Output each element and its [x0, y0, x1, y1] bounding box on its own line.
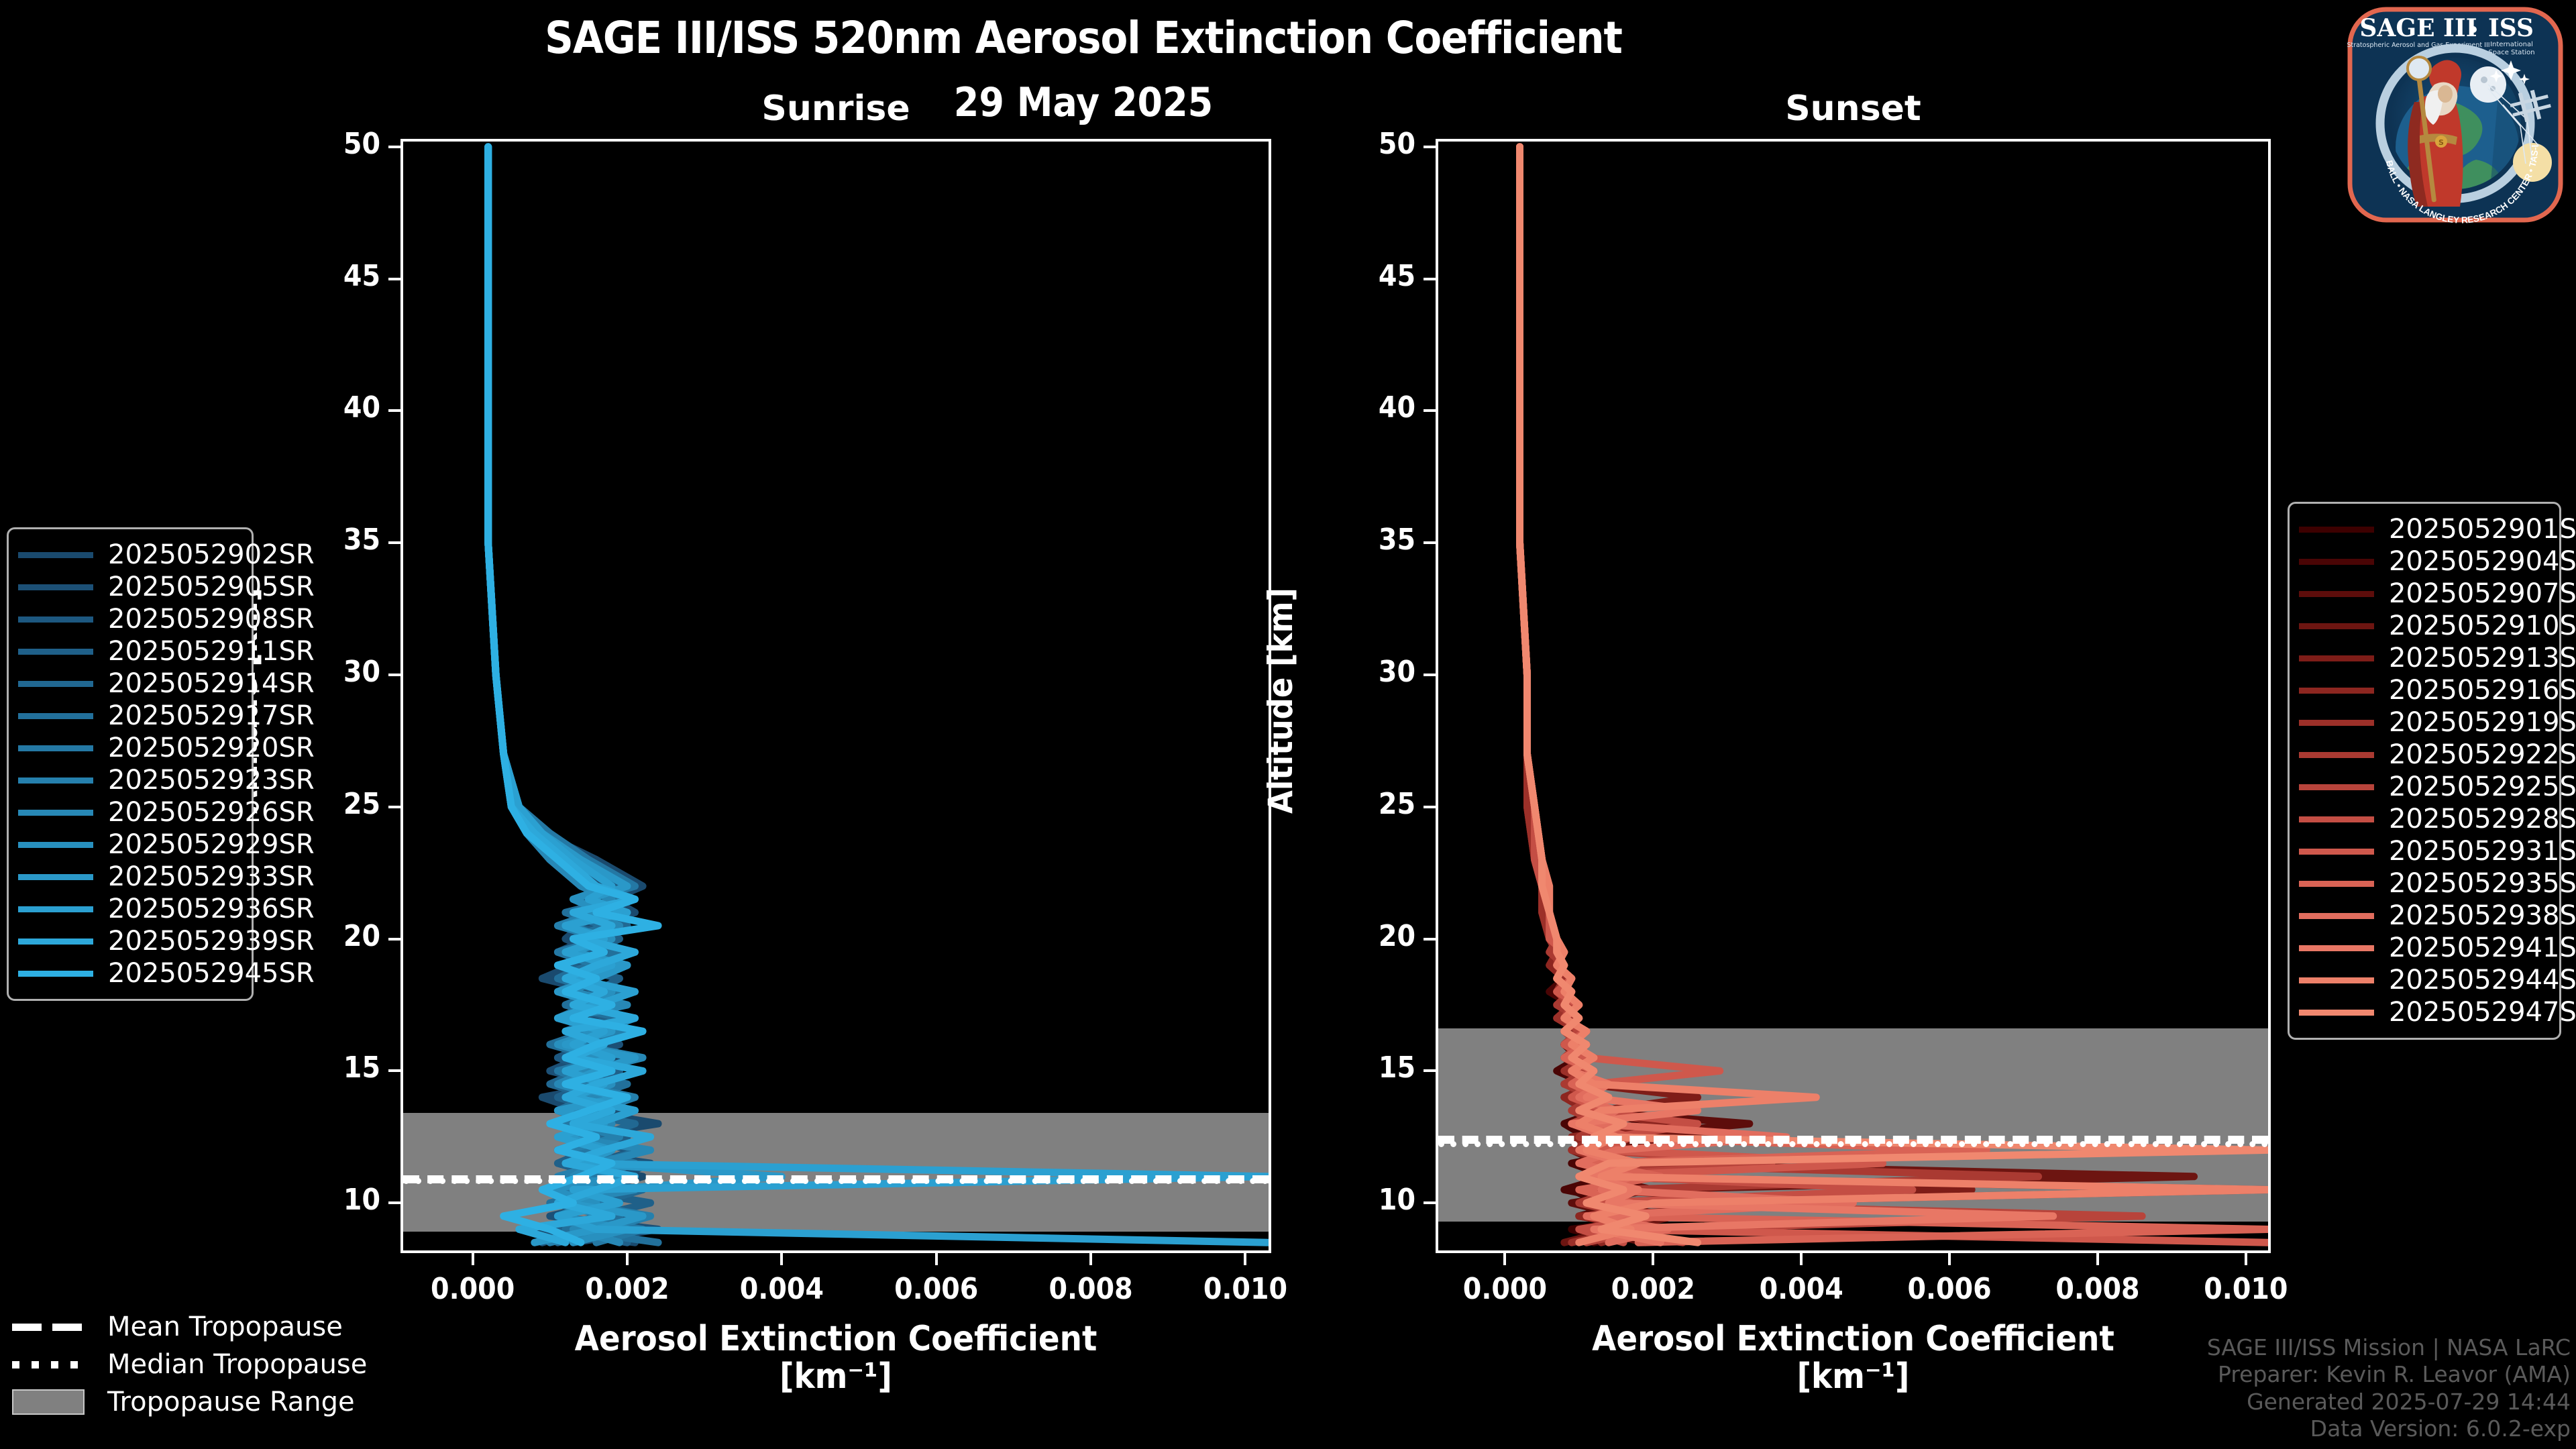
y-axis-tick-label: 45	[1308, 259, 1415, 293]
series-color-swatch-icon	[18, 874, 93, 880]
series-legend-label: 2025052911SR	[108, 636, 315, 667]
sunrise-legend-item[interactable]: 2025052936SR	[18, 893, 239, 925]
x-axis-title-line-1: Aerosol Extinction Coefficient	[1436, 1320, 2271, 1358]
y-axis-tick	[1424, 146, 1436, 148]
y-axis-tick	[1424, 541, 1436, 544]
series-legend-label: 2025052914SR	[108, 668, 315, 699]
y-axis-tick	[1424, 674, 1436, 676]
x-axis-tick	[2245, 1253, 2247, 1265]
series-legend-label: 2025052944SS	[2389, 965, 2576, 996]
series-color-swatch-icon	[2299, 849, 2374, 855]
profile-curves	[403, 142, 1269, 1250]
footer-line-generated: Generated 2025-07-29 14:44	[2207, 1389, 2571, 1415]
series-color-swatch-icon	[2299, 559, 2374, 565]
y-axis-tick	[388, 674, 400, 676]
y-axis-tick	[1424, 278, 1436, 280]
series-color-swatch-icon	[18, 938, 93, 945]
x-axis-tick-label: 0.000	[399, 1272, 547, 1306]
series-color-swatch-icon	[2299, 623, 2374, 629]
footer-line-preparer: Preparer: Kevin R. Leavor (AMA)	[2207, 1361, 2571, 1388]
sunrise-panel-title: Sunrise	[400, 89, 1271, 129]
series-legend-label: 2025052933SR	[108, 861, 315, 892]
y-axis-tick	[388, 278, 400, 280]
svg-text:International: International	[2490, 41, 2533, 48]
legend-item-mean-tropopause: Mean Tropopause	[12, 1308, 301, 1346]
range-swatch-icon	[12, 1393, 91, 1411]
sunset-legend-item[interactable]: 2025052916SS	[2299, 674, 2547, 706]
series-color-swatch-icon	[2299, 688, 2374, 694]
series-legend-label: 2025052925SS	[2389, 771, 2576, 802]
y-axis-tick	[1424, 409, 1436, 412]
median-tropopause-line	[403, 1178, 1269, 1184]
x-axis-tick	[780, 1253, 783, 1265]
series-color-swatch-icon	[2299, 527, 2374, 533]
x-axis-tick	[1244, 1253, 1246, 1265]
x-axis-tick	[626, 1253, 629, 1265]
legend-item-median-tropopause: Median Tropopause	[12, 1346, 301, 1383]
x-axis-title-units: [km⁻¹]	[1436, 1358, 2271, 1395]
series-color-swatch-icon	[18, 552, 93, 558]
series-legend-label: 2025052916SS	[2389, 675, 2576, 706]
y-axis-tick-label: 50	[1308, 127, 1415, 161]
series-legend-label: 2025052908SR	[108, 604, 315, 635]
series-legend-label: 2025052905SR	[108, 572, 315, 602]
sunset-legend-item[interactable]: 2025052935SS	[2299, 867, 2547, 900]
y-axis-tick-label: 10	[1308, 1183, 1415, 1217]
sunset-legend-item[interactable]: 2025052928SS	[2299, 803, 2547, 835]
sunrise-legend-item[interactable]: 2025052923SR	[18, 764, 239, 796]
x-axis-tick	[1948, 1253, 1951, 1265]
sunrise-legend-item[interactable]: 2025052926SR	[18, 796, 239, 828]
series-color-swatch-icon	[2299, 945, 2374, 951]
series-color-swatch-icon	[2299, 655, 2374, 661]
series-legend-label: 2025052902SR	[108, 539, 315, 570]
series-legend-label: 2025052931SS	[2389, 836, 2576, 867]
x-axis-tick-label: 0.008	[2024, 1272, 2171, 1306]
y-axis-tick-label: 10	[273, 1183, 380, 1217]
series-color-swatch-icon	[18, 713, 93, 719]
sunset-legend-item[interactable]: 2025052925SS	[2299, 771, 2547, 803]
series-legend-label: 2025052913SS	[2389, 643, 2576, 674]
x-axis-tick-label: 0.010	[1171, 1272, 1319, 1306]
svg-text:ISS: ISS	[2488, 14, 2534, 42]
sunrise-series-legend[interactable]: 2025052902SR2025052905SR2025052908SR2025…	[7, 527, 254, 1001]
series-color-swatch-icon	[18, 777, 93, 784]
series-color-swatch-icon	[2299, 816, 2374, 822]
sunrise-legend-item[interactable]: 2025052933SR	[18, 861, 239, 893]
dotted-line-icon	[12, 1356, 91, 1373]
y-axis-tick-label: 45	[273, 259, 380, 293]
series-legend-label: 2025052907SS	[2389, 578, 2576, 609]
sunrise-legend-item[interactable]: 2025052911SR	[18, 635, 239, 667]
x-axis-tick	[1652, 1253, 1654, 1265]
y-axis-tick-label: 30	[1308, 655, 1415, 689]
sunrise-legend-item[interactable]: 2025052917SR	[18, 700, 239, 732]
y-axis-tick-label: 40	[1308, 390, 1415, 425]
sunrise-legend-item[interactable]: 2025052905SR	[18, 571, 239, 603]
x-axis-title-units: [km⁻¹]	[400, 1358, 1271, 1395]
series-legend-label: 2025052923SR	[108, 765, 315, 796]
x-axis-tick	[472, 1253, 474, 1265]
series-legend-label: 2025052919SS	[2389, 707, 2576, 738]
x-axis-tick	[2096, 1253, 2099, 1265]
x-axis-tick-label: 0.004	[708, 1272, 855, 1306]
sunset-legend-item[interactable]: 2025052904SS	[2299, 545, 2547, 578]
x-axis-tick-label: 0.002	[553, 1272, 701, 1306]
sunset-panel-title: Sunset	[1436, 89, 2271, 129]
sunset-legend-item[interactable]: 2025052913SS	[2299, 642, 2547, 674]
series-legend-label: 2025052910SS	[2389, 610, 2576, 641]
x-axis-tick	[935, 1253, 938, 1265]
profile-line	[488, 147, 782, 1242]
x-axis-tick-label: 0.006	[863, 1272, 1010, 1306]
x-axis-title: Aerosol Extinction Coefficient[km⁻¹]	[1436, 1320, 2271, 1395]
legend-label-mean-tropopause: Mean Tropopause	[107, 1311, 343, 1342]
sunrise-legend-item[interactable]: 2025052945SR	[18, 957, 239, 989]
sunset-plot-area	[1436, 139, 2271, 1253]
sunset-legend-item[interactable]: 2025052947SS	[2299, 996, 2547, 1028]
series-color-swatch-icon	[2299, 881, 2374, 887]
sunrise-legend-item[interactable]: 2025052939SR	[18, 925, 239, 957]
series-color-swatch-icon	[2299, 977, 2374, 983]
y-axis-title: Altitude [km]	[1261, 588, 1300, 814]
series-legend-label: 2025052936SR	[108, 894, 315, 924]
series-color-swatch-icon	[2299, 720, 2374, 726]
series-color-swatch-icon	[18, 681, 93, 687]
sunset-legend-item[interactable]: 2025052910SS	[2299, 610, 2547, 642]
series-color-swatch-icon	[18, 906, 93, 912]
svg-text:SAGE III: SAGE III	[2359, 14, 2477, 42]
sunset-legend-item[interactable]: 2025052907SS	[2299, 578, 2547, 610]
series-legend-label: 2025052920SR	[108, 733, 315, 763]
y-axis-tick	[1424, 938, 1436, 941]
series-color-swatch-icon	[18, 810, 93, 816]
series-color-swatch-icon	[18, 971, 93, 977]
sunset-legend-item[interactable]: 2025052901SS	[2299, 513, 2547, 545]
series-color-swatch-icon	[18, 842, 93, 848]
y-axis-tick-label: 20	[1308, 919, 1415, 953]
footer-line-version: Data Version: 6.0.2-exp	[2207, 1415, 2571, 1442]
x-axis-title-line-1: Aerosol Extinction Coefficient	[400, 1320, 1271, 1358]
profile-line	[1520, 147, 2269, 1242]
legend-label-median-tropopause: Median Tropopause	[107, 1349, 367, 1380]
series-color-swatch-icon	[18, 616, 93, 623]
x-axis-title: Aerosol Extinction Coefficient[km⁻¹]	[400, 1320, 1271, 1395]
sunrise-plot-area	[400, 139, 1271, 1253]
sunrise-legend-item[interactable]: 2025052914SR	[18, 667, 239, 700]
series-legend-label: 2025052928SS	[2389, 804, 2576, 835]
page-title: SAGE III/ISS 520nm Aerosol Extinction Co…	[0, 12, 2167, 64]
y-axis-tick	[388, 1201, 400, 1204]
series-color-swatch-icon	[2299, 784, 2374, 790]
y-axis-tick	[388, 806, 400, 808]
series-color-swatch-icon	[18, 745, 93, 751]
series-color-swatch-icon	[2299, 913, 2374, 919]
y-axis-tick-label: 40	[273, 390, 380, 425]
series-legend-label: 2025052926SR	[108, 797, 315, 828]
series-color-swatch-icon	[18, 584, 93, 590]
x-axis-tick-label: 0.008	[1017, 1272, 1165, 1306]
y-axis-tick-label: 25	[1308, 787, 1415, 821]
footer-line-mission: SAGE III/ISS Mission | NASA LaRC	[2207, 1334, 2571, 1361]
y-axis-tick-label: 50	[273, 127, 380, 161]
sunrise-legend-item[interactable]: 2025052902SR	[18, 539, 239, 571]
series-legend-label: 2025052935SS	[2389, 868, 2576, 899]
sunset-legend-item[interactable]: 2025052941SS	[2299, 932, 2547, 964]
sunset-legend-item[interactable]: 2025052931SS	[2299, 835, 2547, 867]
series-legend-label: 2025052939SR	[108, 926, 315, 957]
series-legend-label: 2025052922SS	[2389, 739, 2576, 770]
profile-line	[1520, 147, 2143, 1242]
svg-text:S: S	[2438, 138, 2444, 147]
sunrise-legend-item[interactable]: 2025052929SR	[18, 828, 239, 861]
y-axis-tick	[388, 541, 400, 544]
sunset-series-legend[interactable]: 2025052901SS2025052904SS2025052907SS2025…	[2288, 502, 2561, 1040]
y-axis-tick-label: 15	[1308, 1051, 1415, 1085]
series-legend-label: 2025052929SR	[108, 829, 315, 860]
legend-label-tropopause-range: Tropopause Range	[107, 1387, 355, 1417]
sunrise-legend-item[interactable]: 2025052920SR	[18, 732, 239, 764]
series-legend-label: 2025052917SR	[108, 700, 315, 731]
y-axis-tick	[1424, 806, 1436, 808]
y-axis-tick	[1424, 1201, 1436, 1204]
series-legend-label: 2025052945SR	[108, 958, 315, 989]
x-axis-tick	[1800, 1253, 1803, 1265]
series-color-swatch-icon	[2299, 1010, 2374, 1016]
median-tropopause-line	[1438, 1141, 2268, 1147]
series-legend-label: 2025052938SS	[2389, 900, 2576, 931]
series-color-swatch-icon	[2299, 591, 2374, 597]
x-axis-tick-label: 0.010	[2172, 1272, 2320, 1306]
x-axis-tick-label: 0.002	[1579, 1272, 1727, 1306]
series-legend-label: 2025052904SS	[2389, 546, 2576, 577]
y-axis-tick	[388, 409, 400, 412]
series-legend-label: 2025052901SS	[2389, 514, 2576, 545]
sunset-legend-item[interactable]: 2025052922SS	[2299, 739, 2547, 771]
y-axis-tick-label: 15	[273, 1051, 380, 1085]
y-axis-tick	[1424, 1069, 1436, 1072]
series-color-swatch-icon	[18, 649, 93, 655]
x-axis-tick-label: 0.004	[1727, 1272, 1875, 1306]
series-legend-label: 2025052947SS	[2389, 997, 2576, 1028]
x-axis-tick	[1503, 1253, 1506, 1265]
x-axis-tick-label: 0.000	[1431, 1272, 1578, 1306]
sage-iii-iss-mission-patch-logo: SAGE III ISS Stratospheric Aerosol and G…	[2345, 4, 2566, 225]
sunset-legend-item[interactable]: 2025052938SS	[2299, 900, 2547, 932]
tropopause-legend: Mean Tropopause Median Tropopause Tropop…	[12, 1308, 301, 1421]
y-axis-tick	[388, 938, 400, 941]
sunset-legend-item[interactable]: 2025052944SS	[2299, 964, 2547, 996]
x-axis-tick	[1089, 1253, 1092, 1265]
series-legend-label: 2025052941SS	[2389, 932, 2576, 963]
legend-item-tropopause-range: Tropopause Range	[12, 1383, 301, 1421]
series-color-swatch-icon	[2299, 752, 2374, 758]
sunrise-legend-item[interactable]: 2025052908SR	[18, 603, 239, 635]
dashed-line-icon	[12, 1318, 91, 1336]
profile-curves	[1438, 142, 2268, 1250]
y-axis-tick	[388, 1069, 400, 1072]
footer-credits: SAGE III/ISS Mission | NASA LaRC Prepare…	[2207, 1334, 2571, 1442]
profile-line	[488, 147, 658, 1242]
x-axis-tick-label: 0.006	[1876, 1272, 2023, 1306]
y-axis-tick-label: 35	[1308, 523, 1415, 557]
sunset-legend-item[interactable]: 2025052919SS	[2299, 706, 2547, 739]
profile-line	[1520, 147, 2053, 1242]
y-axis-tick	[388, 146, 400, 148]
